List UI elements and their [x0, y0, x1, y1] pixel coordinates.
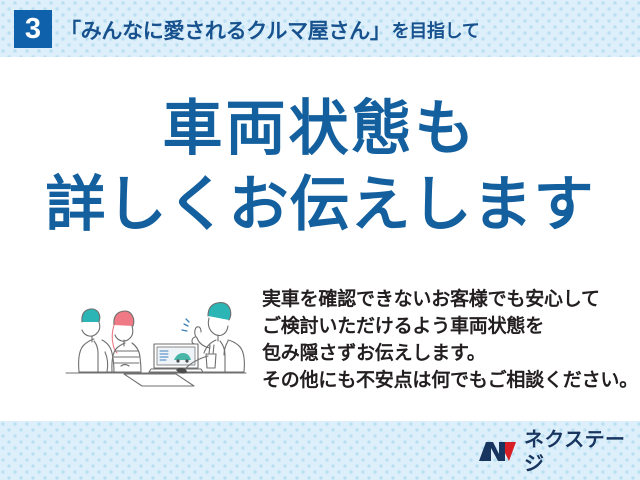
consultation-illustration-svg — [58, 278, 254, 390]
step-number-badge: 3 — [14, 10, 52, 48]
headline: 車両状態も 詳しくお伝えします — [0, 92, 640, 244]
body-copy: 実車を確認できないお客様でも安心して ご検討いただけるよう車両状態を 包み隠さず… — [262, 286, 622, 394]
body-copy-line: その他にも不安点は何でもご相談ください。 — [262, 367, 622, 394]
nextage-n-mark-icon — [478, 440, 518, 464]
header-title-main: 「みんなに愛されるクルマ屋さん」 — [60, 15, 391, 45]
body-copy-line: 実車を確認できないお客様でも安心して — [262, 286, 622, 313]
header-title: 「みんなに愛されるクルマ屋さん」 を目指して — [60, 13, 480, 47]
headline-line-2: 詳しくお伝えします — [0, 166, 640, 244]
header-title-tail: を目指して — [391, 17, 480, 43]
brand-name: ネクステージ — [524, 428, 640, 476]
headline-line-1: 車両状態も — [0, 92, 640, 166]
advertisement-banner: 3 「みんなに愛されるクルマ屋さん」 を目指して 車両状態も 詳しくお伝えします — [0, 0, 640, 480]
body-copy-line: ご検討いただけるよう車両状態を — [262, 313, 622, 340]
consultation-illustration — [58, 278, 254, 390]
brand-logo: ネクステージ — [478, 438, 640, 466]
body-copy-line: 包み隠さずお伝えします。 — [262, 340, 622, 367]
